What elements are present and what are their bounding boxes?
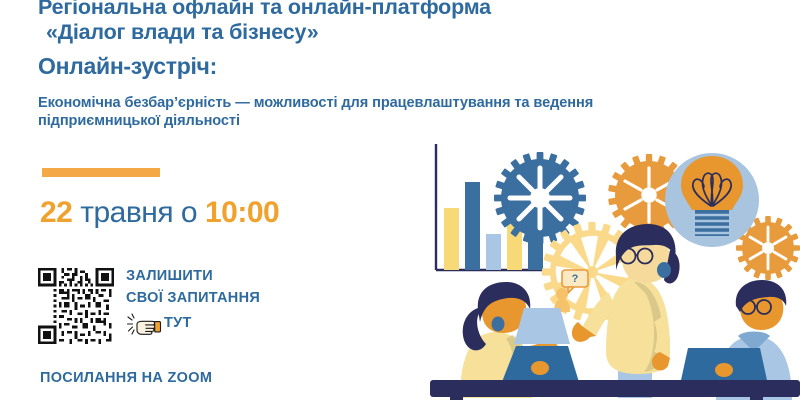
qr-code-icon[interactable]	[38, 268, 114, 344]
qr-caption-line-3: ТУТ	[164, 315, 192, 332]
zoom-link-label: ПОСИЛАННЯ НА ZOOM .......	[40, 370, 212, 400]
date-number: 22	[40, 196, 72, 229]
zoom-link-text: ПОСИЛАННЯ НА ZOOM	[40, 370, 212, 386]
zoom-link-sublabel: .......	[40, 390, 212, 400]
title-line-1: Регіональна офлайн та онлайн-платформа	[38, 0, 491, 19]
event-poster: Регіональна офлайн та онлайн-платформа «…	[0, 0, 800, 400]
event-time: 10:00	[205, 196, 279, 229]
qr-caption: ЗАЛИШИТИ СВОЇ ЗАПИТАННЯ	[126, 266, 356, 337]
qr-caption-line-3-row: ТУТ	[126, 311, 356, 337]
meeting-illustration: ?	[420, 130, 800, 400]
lightbulb-icon	[665, 153, 759, 247]
qr-caption-line-2: СВОЇ ЗАПИТАННЯ	[126, 288, 356, 310]
text-column: Регіональна офлайн та онлайн-платформа «…	[0, 0, 430, 400]
datetime-line: 22 травня о 10:00	[40, 196, 279, 230]
svg-text:?: ?	[572, 273, 579, 285]
title-line-2: «Діалог влади та бізнесу»	[38, 20, 638, 45]
meeting-label: Онлайн-зустріч:	[38, 53, 217, 80]
qr-caption-line-1: ЗАЛИШИТИ	[126, 266, 356, 288]
orange-divider	[42, 168, 160, 177]
pointing-hand-icon	[126, 311, 164, 337]
page-title: Регіональна офлайн та онлайн-платформа «…	[38, 0, 638, 45]
date-month-word: травня о	[80, 196, 197, 229]
subtitle-text: Економічна безбар’єрність — можливості д…	[38, 95, 698, 130]
table	[430, 380, 800, 400]
